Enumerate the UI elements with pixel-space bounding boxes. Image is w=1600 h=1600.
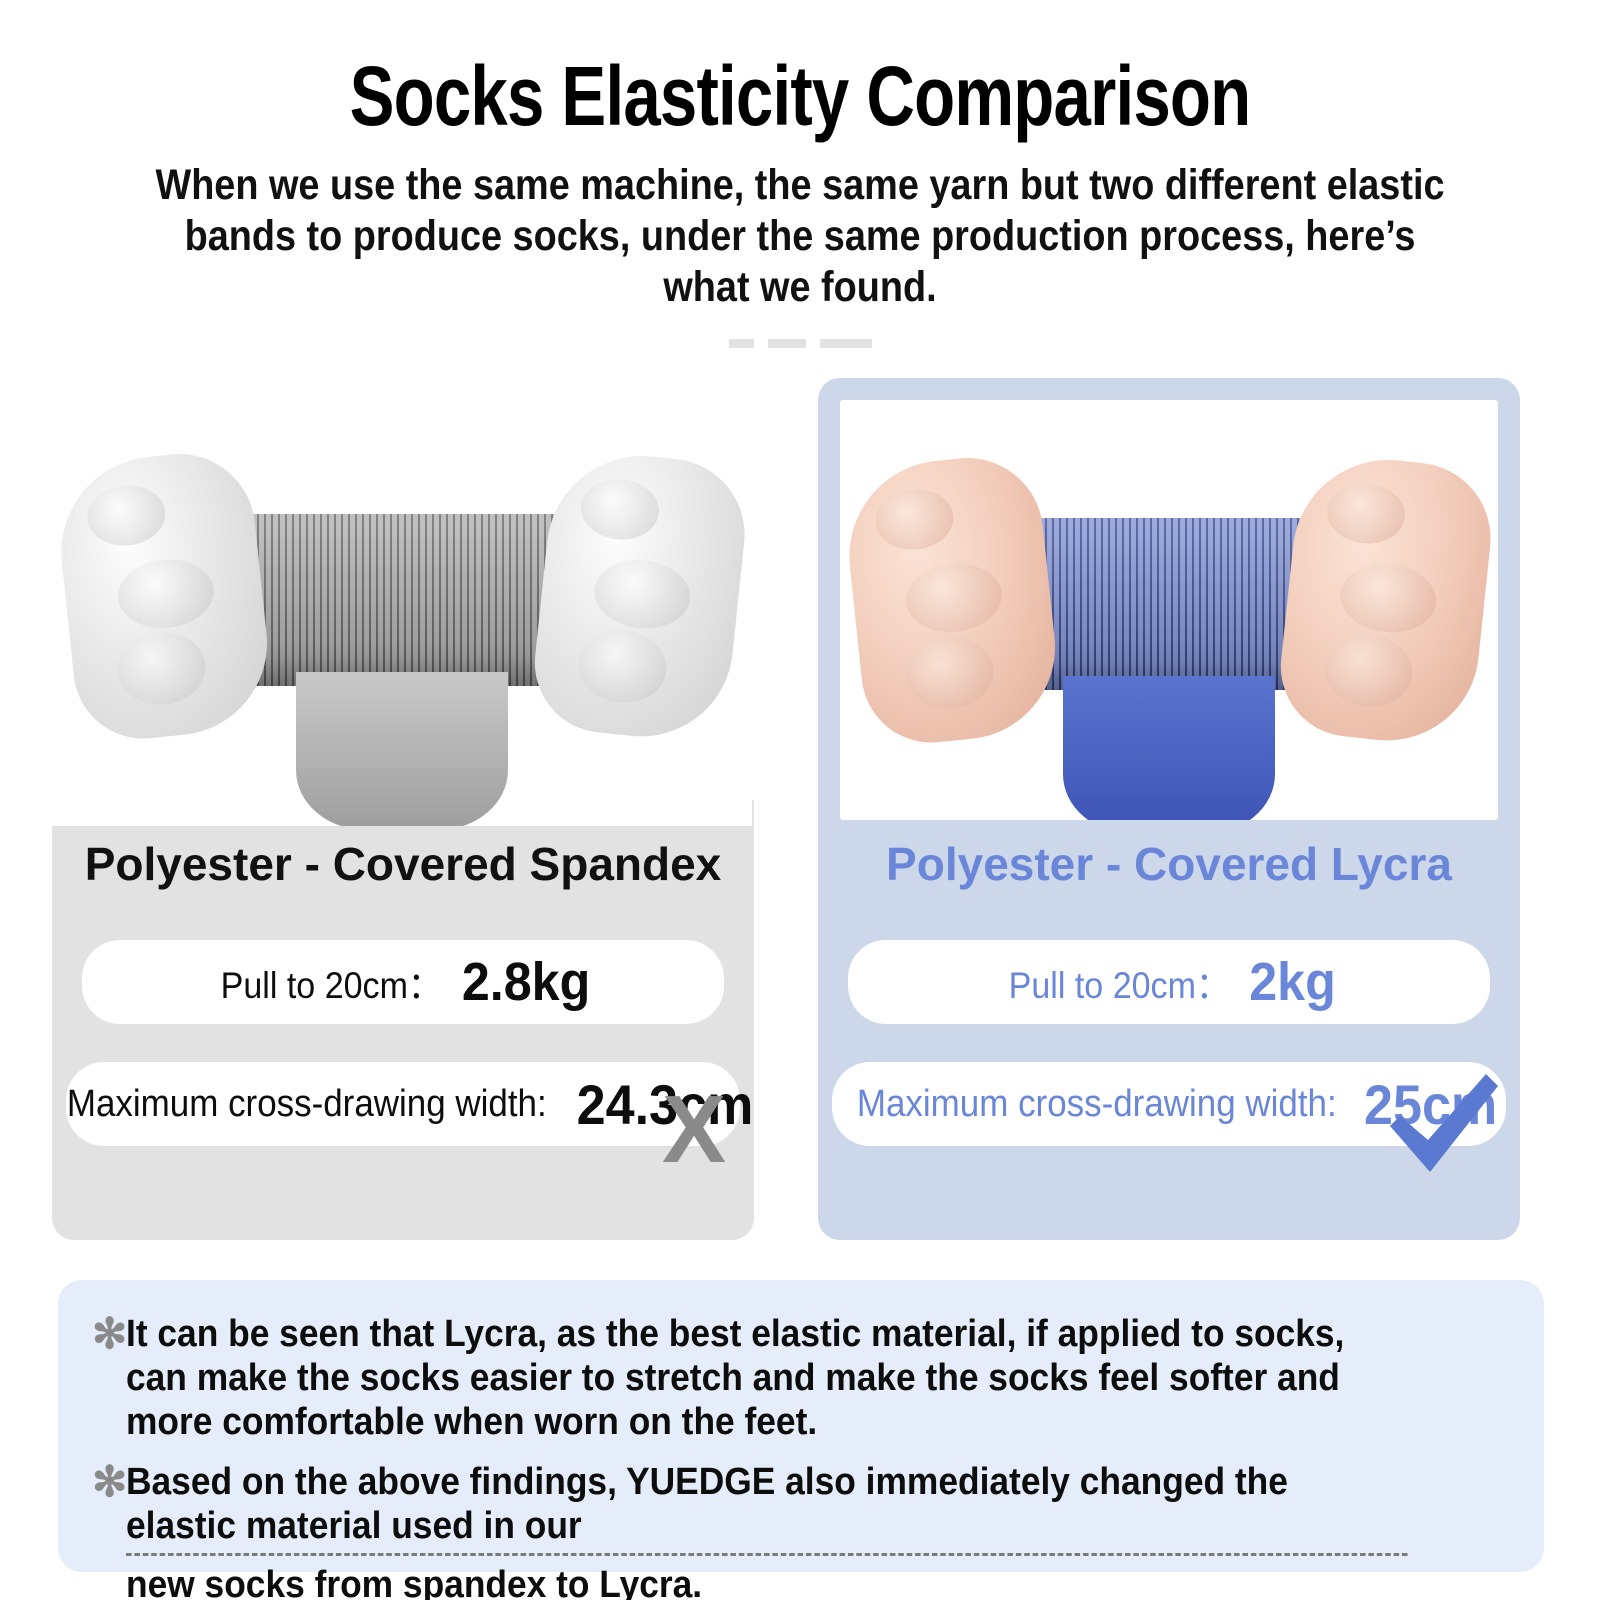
knuckle-shape	[902, 559, 1005, 637]
infographic-page: Socks Elasticity Comparison When we use …	[0, 0, 1600, 1600]
x-mark-icon: X	[662, 1082, 726, 1178]
metric-label: Pull to 20cm：	[220, 955, 441, 1009]
knuckle-shape	[1321, 630, 1416, 711]
note-line: new socks from spandex to Lycra.	[126, 1563, 702, 1600]
metric-label: Pull to 20cm：	[1009, 955, 1230, 1009]
notes-panel: ✻ It can be seen that Lycra, as the best…	[58, 1280, 1544, 1572]
sock-body-graphic	[296, 672, 508, 826]
knuckle-shape	[114, 628, 209, 709]
knuckle-shape	[591, 555, 694, 633]
knuckle-shape	[575, 626, 670, 707]
metric-pill-max-width: Maximum cross-drawing width: 24.3cm	[66, 1062, 740, 1146]
divider	[0, 339, 1600, 348]
hand-right-graphic	[528, 447, 752, 746]
hand-left-graphic	[840, 451, 1064, 750]
note-item: ✻ It can be seen that Lycra, as the best…	[92, 1312, 1504, 1444]
note-item: ✻ Based on the above findings, YUEDGE al…	[92, 1460, 1504, 1600]
note-text: It can be seen that Lycra, as the best e…	[126, 1312, 1408, 1444]
metric-label: Maximum cross-drawing width:	[67, 1083, 547, 1126]
metric-pill-pull-force: Pull to 20cm： 2kg	[848, 940, 1490, 1024]
metric-value: 2.8kg	[462, 951, 590, 1013]
knuckle-shape	[1324, 480, 1408, 548]
asterisk-icon: ✻	[92, 1460, 126, 1504]
knuckle-shape	[1337, 559, 1440, 637]
hand-right-graphic	[1274, 451, 1498, 750]
divider-dash-short	[729, 339, 754, 348]
knuckle-shape	[84, 482, 168, 550]
sock-body-graphic	[1063, 676, 1275, 820]
hand-left-graphic	[52, 447, 276, 746]
note-text: Based on the above findings, YUEDGE also…	[126, 1460, 1408, 1600]
comparison-cards: Polyester - Covered Spandex Pull to 20cm…	[0, 378, 1600, 1248]
photo-stage	[52, 396, 752, 826]
check-mark-icon	[1382, 1064, 1502, 1184]
comparison-card-spandex: Polyester - Covered Spandex Pull to 20cm…	[52, 378, 754, 1240]
metric-label: Maximum cross-drawing width:	[856, 1083, 1336, 1126]
asterisk-icon: ✻	[92, 1312, 126, 1356]
knuckle-shape	[578, 476, 662, 544]
note-line: worn on the feet.	[534, 1401, 817, 1443]
metric-pill-pull-force: Pull to 20cm： 2.8kg	[82, 940, 724, 1024]
photo-lycra-sock	[840, 400, 1498, 820]
metric-value: 2kg	[1249, 951, 1336, 1013]
card-heading-lycra: Polyester - Covered Lycra	[818, 836, 1520, 892]
page-subtitle: When we use the same machine, the same y…	[144, 160, 1455, 313]
knuckle-shape	[872, 486, 956, 554]
divider-dash-long	[820, 339, 872, 348]
photo-stage	[840, 400, 1498, 820]
knuckle-shape	[114, 555, 217, 633]
note-line: Based on the above findings, YUEDGE also…	[126, 1460, 1408, 1556]
divider-dash-medium	[768, 339, 806, 348]
knuckle-shape	[902, 632, 997, 713]
card-heading-spandex: Polyester - Covered Spandex	[52, 836, 754, 892]
page-title: Socks Elasticity Comparison	[160, 50, 1440, 142]
photo-spandex-sock	[52, 396, 752, 826]
